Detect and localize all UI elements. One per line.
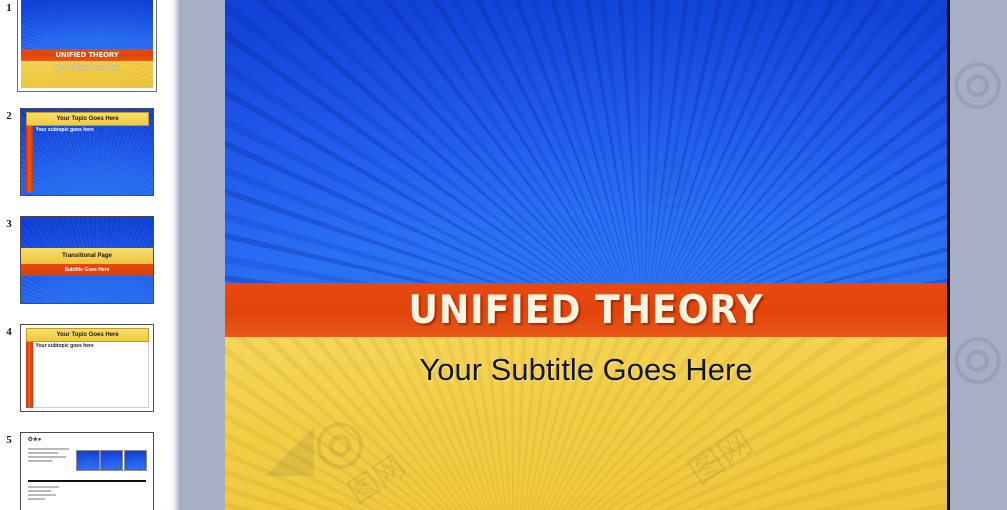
slide-number-5: 5	[2, 434, 16, 446]
thumb4-title: Your Topic Goes Here	[26, 328, 149, 343]
slide-subtitle[interactable]: Your Subtitle Goes Here	[225, 352, 947, 388]
thumbnail-slide-5[interactable]: 5 ⚙★●	[0, 432, 170, 510]
slide-blue-background	[225, 0, 947, 283]
thumbnail-preview-5: ⚙★●	[21, 433, 153, 510]
thumb4-left-strip	[26, 341, 33, 407]
thumbnail-frame-5[interactable]: ⚙★●	[20, 432, 154, 510]
slide-number-3: 3	[2, 218, 16, 230]
thumb2-left-strip	[26, 125, 33, 191]
thumbnail-preview-3: Transitional Page Subtitle Goes Here	[21, 217, 153, 303]
thumb3-subtitle: Subtitle Goes Here	[21, 264, 153, 276]
watermark-spiral-icon-right-2: ⦾	[952, 330, 1003, 394]
thumb5-mini-thumb-1	[76, 450, 99, 471]
thumb5-mini-thumb-3	[124, 450, 147, 471]
current-slide[interactable]: UNIFIED THEORY Your Subtitle Goes Here ◢…	[225, 0, 950, 510]
thumb2-title: Your Topic Goes Here	[26, 112, 149, 127]
thumb3-title: Transitional Page	[21, 248, 153, 264]
thumbnail-slide-4[interactable]: 4 Your Topic Goes Here Your subtopic goe…	[0, 324, 170, 434]
slide-thumbnail-panel[interactable]: 1 UNIFIED THEORY Your Subtitle Goes Here…	[0, 0, 170, 510]
slide-title[interactable]: UNIFIED THEORY	[250, 283, 921, 337]
thumbnail-slide-1[interactable]: 1 UNIFIED THEORY Your Subtitle Goes Here	[0, 0, 170, 110]
thumb1-subtitle: Your Subtitle Goes Here	[21, 62, 153, 74]
slide-number-2: 2	[2, 110, 16, 122]
slide-number-1: 1	[2, 2, 16, 14]
thumb4-body	[33, 341, 149, 407]
thumbnail-frame-1[interactable]: UNIFIED THEORY Your Subtitle Goes Here	[17, 0, 157, 92]
watermark-spiral-icon-right-1: ⦾	[952, 55, 1003, 119]
thumbnail-slide-2[interactable]: 2 Your Topic Goes Here Your subtopic goe…	[0, 108, 170, 218]
thumb5-logo-icon: ⚙★●	[28, 436, 41, 443]
thumbnail-frame-3[interactable]: Transitional Page Subtitle Goes Here	[20, 216, 154, 304]
thumb2-bullet: Your subtopic goes here	[36, 127, 94, 133]
thumb5-text-block-bottom	[28, 486, 68, 502]
right-background-pane: ⦾ ⦾	[950, 0, 1007, 510]
thumb5-text-block-top	[28, 448, 72, 464]
thumbnail-frame-4[interactable]: Your Topic Goes Here Your subtopic goes …	[20, 324, 154, 412]
slide-number-4: 4	[2, 326, 16, 338]
thumb5-mini-thumb-2	[100, 450, 123, 471]
thumb5-divider	[28, 480, 147, 482]
thumb1-blue-area	[21, 0, 153, 49]
thumb1-title: UNIFIED THEORY	[21, 49, 153, 60]
thumbnail-frame-2[interactable]: Your Topic Goes Here Your subtopic goes …	[20, 108, 154, 196]
thumbnail-preview-1: UNIFIED THEORY Your Subtitle Goes Here	[21, 0, 153, 88]
thumbnail-preview-2: Your Topic Goes Here Your subtopic goes …	[21, 109, 153, 195]
thumbnail-preview-4: Your Topic Goes Here Your subtopic goes …	[21, 325, 153, 411]
panel-splitter[interactable]	[170, 0, 180, 510]
thumbnail-slide-3[interactable]: 3 Transitional Page Subtitle Goes Here	[0, 216, 170, 326]
thumb4-bullet: Your subtopic goes here	[36, 343, 94, 349]
